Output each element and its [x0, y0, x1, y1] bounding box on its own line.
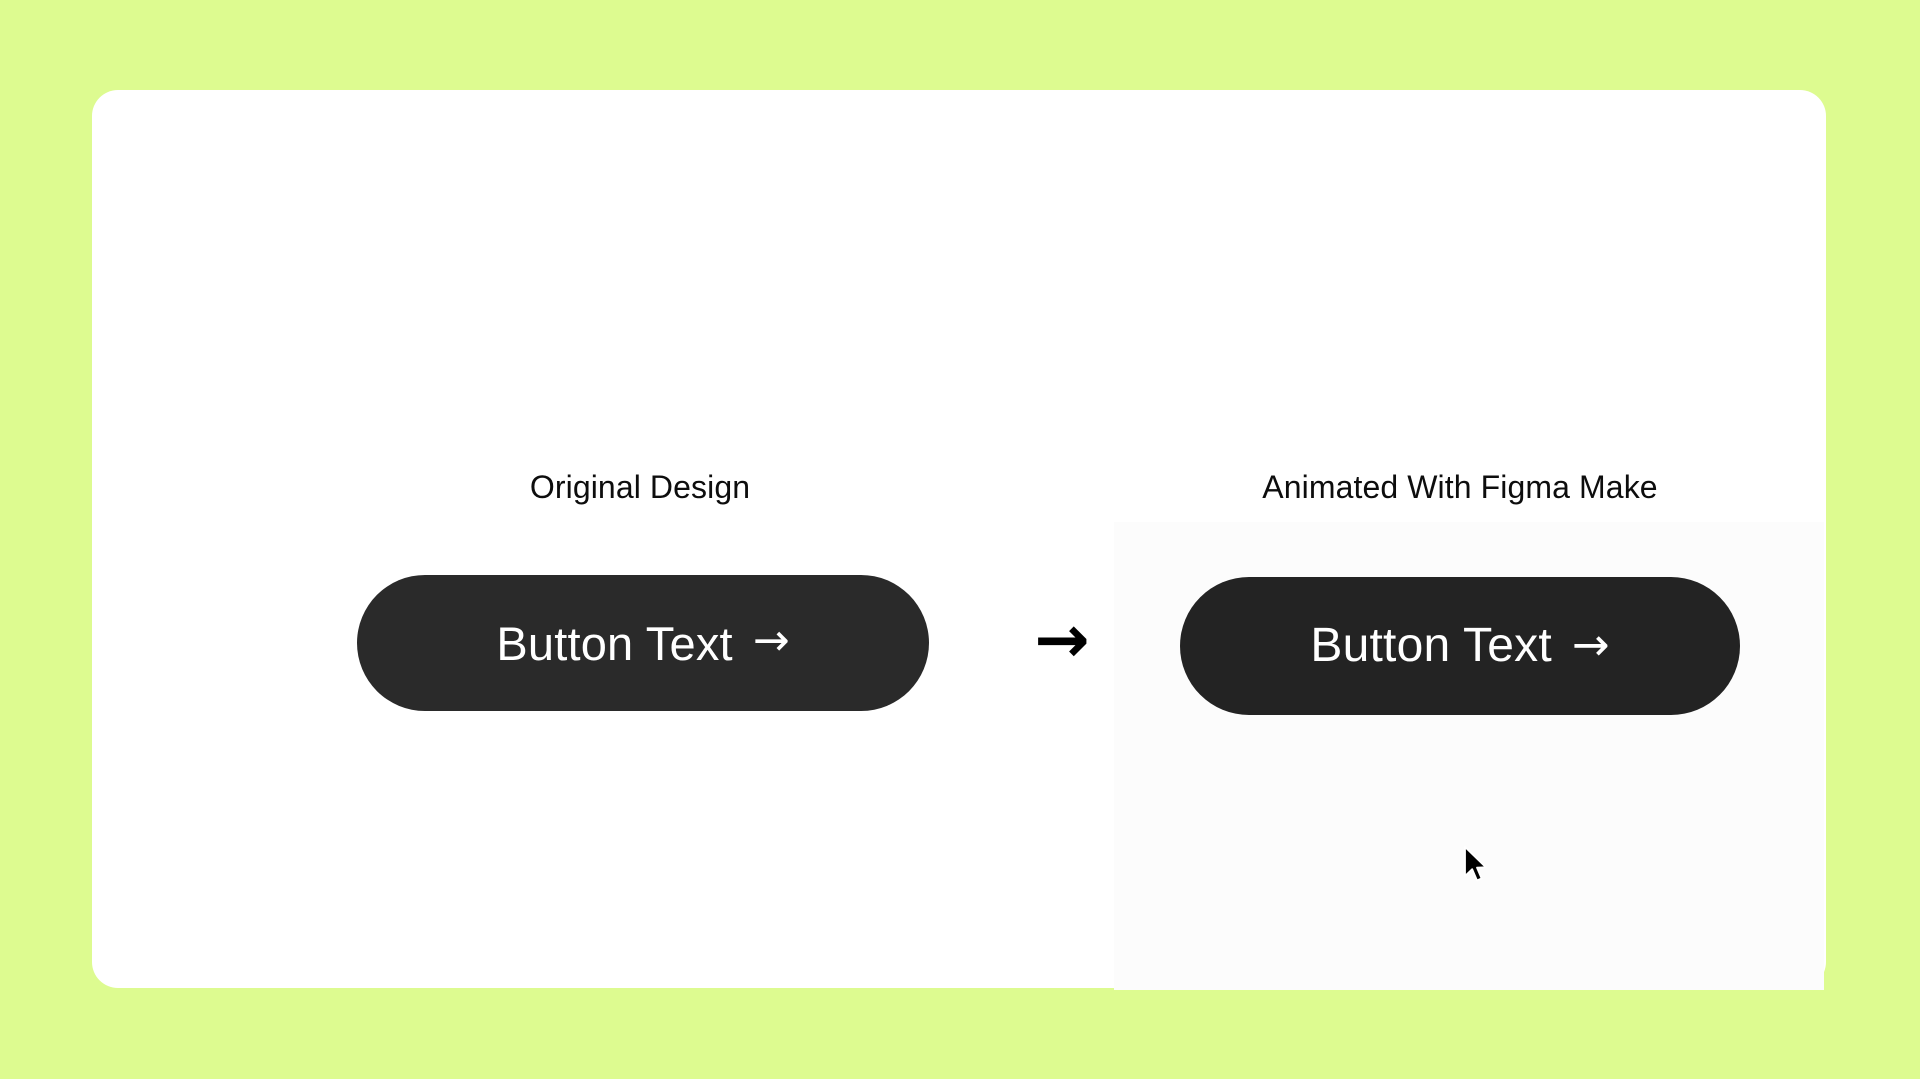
arrow-right-icon: →: [753, 619, 790, 663]
original-button-content: Button Text →: [496, 620, 789, 667]
animated-preview-stage: Button Text →: [1114, 522, 1824, 990]
canvas-card: Original Design Button Text → → Animated…: [92, 90, 1826, 988]
animated-button-label: Button Text: [1310, 622, 1551, 670]
comparison-row: Original Design Button Text → → Animated…: [92, 90, 1826, 988]
original-design-label: Original Design: [280, 468, 1000, 506]
original-design-button[interactable]: Button Text →: [357, 575, 929, 711]
animated-preview-panel: Animated With Figma Make Button Text →: [1092, 380, 1828, 1000]
original-button-label: Button Text: [496, 620, 733, 667]
animated-preview-label: Animated With Figma Make: [1092, 468, 1828, 506]
animated-preview-button[interactable]: Button Text →: [1180, 577, 1740, 715]
original-design-panel: Original Design Button Text →: [280, 380, 1000, 800]
animated-button-content: Button Text →: [1310, 622, 1609, 670]
arrow-right-icon: →: [1572, 622, 1610, 667]
